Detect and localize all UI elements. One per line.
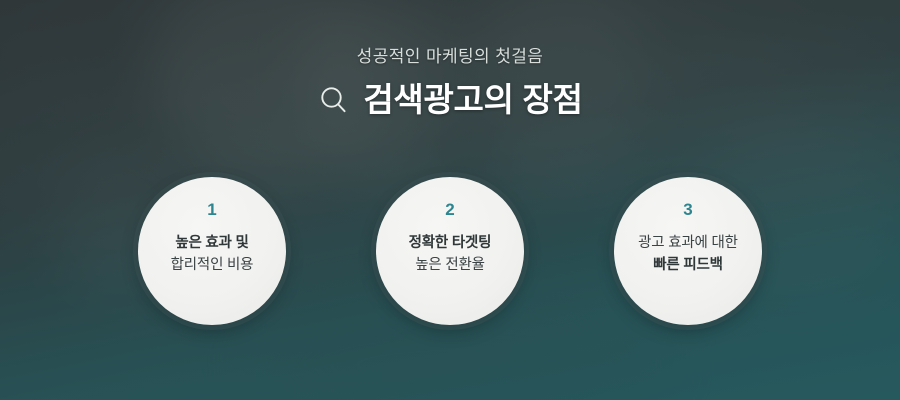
search-ad-benefits-banner: 성공적인 마케팅의 첫걸음 검색광고의 장점 1 높은 효과 및 합리적인 비용… bbox=[0, 0, 900, 400]
benefit-number: 2 bbox=[445, 201, 454, 218]
benefit-line-2: 빠른 피드백 bbox=[653, 254, 723, 276]
benefit-line-1: 정확한 타겟팅 bbox=[409, 232, 492, 254]
benefit-line-2: 합리적인 비용 bbox=[171, 254, 254, 276]
benefit-circle-2: 2 정확한 타겟팅 높은 전환율 bbox=[376, 177, 524, 325]
benefit-number: 1 bbox=[207, 201, 216, 218]
benefit-line-2: 높은 전환율 bbox=[415, 254, 485, 276]
search-icon bbox=[317, 82, 351, 118]
benefit-line-1: 광고 효과에 대한 bbox=[638, 232, 738, 254]
banner-subtitle: 성공적인 마케팅의 첫걸음 bbox=[0, 48, 900, 65]
banner-heading: 성공적인 마케팅의 첫걸음 검색광고의 장점 bbox=[0, 48, 900, 118]
benefit-number: 3 bbox=[683, 201, 692, 218]
benefit-line-1: 높은 효과 및 bbox=[175, 232, 248, 254]
banner-title-row: 검색광고의 장점 bbox=[0, 82, 900, 118]
benefit-circle-3: 3 광고 효과에 대한 빠른 피드백 bbox=[614, 177, 762, 325]
benefit-circle-1: 1 높은 효과 및 합리적인 비용 bbox=[138, 177, 286, 325]
page-title: 검색광고의 장점 bbox=[363, 83, 582, 118]
benefit-circle-list: 1 높은 효과 및 합리적인 비용 2 정확한 타겟팅 높은 전환율 3 광고 … bbox=[0, 177, 900, 325]
